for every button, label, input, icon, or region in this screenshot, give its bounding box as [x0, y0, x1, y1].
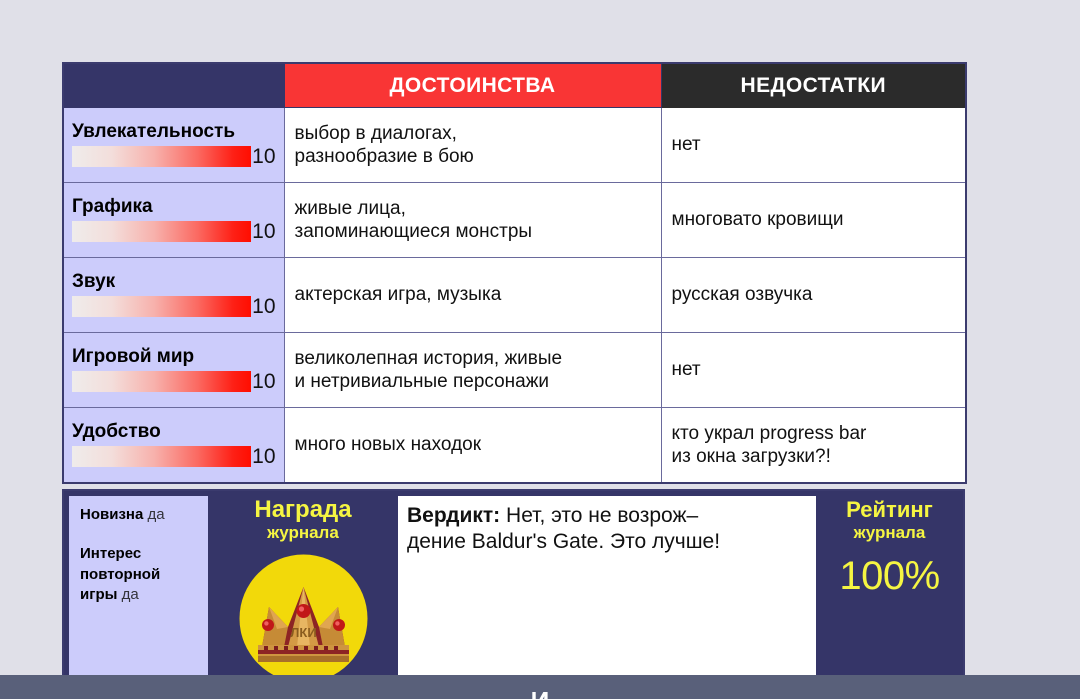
cons-line: многовато кровищи — [672, 208, 966, 231]
crown-medal-icon: ЛКИ — [236, 551, 371, 686]
award-box: Награда журнала — [208, 491, 398, 690]
replay-value: да — [122, 586, 139, 603]
header-criterion-blank — [63, 63, 284, 108]
rating-value: 100% — [816, 556, 963, 596]
criterion-cell: Удобство 10 — [63, 408, 284, 484]
criterion-label: Удобство — [72, 421, 276, 442]
score-meter: 10 — [72, 146, 276, 167]
replay-row: повторной — [80, 565, 208, 585]
cons-cell: нет — [661, 108, 966, 183]
criterion-cell: Звук 10 — [63, 258, 284, 333]
verdict-text-part1: Нет, это не возрож– — [500, 504, 698, 527]
table-header-row: ДОСТОИНСТВА НЕДОСТАТКИ — [63, 63, 966, 108]
pros-line: много новых находок — [295, 433, 661, 456]
pros-cell: много новых находок — [284, 408, 661, 484]
score-table: ДОСТОИНСТВА НЕДОСТАТКИ Увлекательность 1… — [62, 62, 967, 484]
cons-line: кто украл progress bar — [672, 422, 966, 445]
criterion-cell: Графика 10 — [63, 183, 284, 258]
game-review-card: ДОСТОИНСТВА НЕДОСТАТКИ Увлекательность 1… — [62, 62, 965, 692]
verdict-label: Вердикт: — [407, 504, 500, 527]
pros-line: разнообразие в бою — [295, 145, 661, 168]
novelty-value: да — [147, 506, 164, 523]
criterion-cell: Игровой мир 10 — [63, 333, 284, 408]
pros-cell: актерская игра, музыка — [284, 258, 661, 333]
award-title: Награда — [208, 498, 398, 522]
pros-line: выбор в диалогах, — [295, 122, 661, 145]
pros-line: великолепная история, живые — [295, 347, 661, 370]
score-table-header: ДОСТОИНСТВА НЕДОСТАТКИ — [63, 63, 966, 108]
verdict-line-2: дение Baldur's Gate. Это лучше! — [407, 529, 816, 555]
pros-line: актерская игра, музыка — [295, 283, 661, 306]
award-subtitle: журнала — [208, 522, 398, 545]
verdict-box: Вердикт: Нет, это не возрож– дение Baldu… — [398, 496, 816, 684]
score-meter-bar — [72, 296, 251, 317]
criterion-cell: Увлекательность 10 — [63, 108, 284, 183]
table-row: Увлекательность 10 выбор в диалогах, раз… — [63, 108, 966, 183]
table-row: Графика 10 живые лица, запоминающиеся мо… — [63, 183, 966, 258]
page-footer-strip: И — [0, 675, 1080, 699]
footer-text: И — [0, 688, 1080, 699]
pros-line: живые лица, — [295, 197, 661, 220]
cons-cell: многовато кровищи — [661, 183, 966, 258]
cons-line: нет — [672, 358, 966, 381]
score-meter: 10 — [72, 221, 276, 242]
rating-title: Рейтинг — [816, 499, 963, 521]
replay-label-line2: повторной — [80, 566, 160, 583]
score-meter-bar — [72, 146, 251, 167]
cons-cell: нет — [661, 333, 966, 408]
score-meter-bar — [72, 446, 251, 467]
verdict-line-1: Вердикт: Нет, это не возрож– — [407, 503, 816, 529]
novelty-label: Новизна — [80, 506, 143, 523]
cons-line: нет — [672, 133, 966, 156]
replay-row: игры да — [80, 585, 208, 605]
criterion-label: Игровой мир — [72, 346, 276, 367]
score-value: 10 — [251, 447, 275, 467]
extras-box: Новизна да Интерес повторной игры да — [69, 496, 208, 685]
score-table-body: Увлекательность 10 выбор в диалогах, раз… — [63, 108, 966, 484]
replay-label-line1: Интерес — [80, 545, 141, 562]
pros-line: запоминающиеся монстры — [295, 220, 661, 243]
pros-cell: выбор в диалогах, разнообразие в бою — [284, 108, 661, 183]
table-row: Игровой мир 10 великолепная история, жив… — [63, 333, 966, 408]
criterion-label: Звук — [72, 271, 276, 292]
extras-spacer — [80, 525, 208, 544]
rating-box: Рейтинг журнала 100% — [816, 491, 963, 690]
pros-line: и нетривиальные персонажи — [295, 370, 661, 393]
cons-line: русская озвучка — [672, 283, 966, 306]
criterion-label: Увлекательность — [72, 121, 276, 142]
cons-cell: русская озвучка — [661, 258, 966, 333]
pros-cell: великолепная история, живые и нетривиаль… — [284, 333, 661, 408]
score-meter: 10 — [72, 446, 276, 467]
header-pros: ДОСТОИНСТВА — [284, 63, 661, 108]
score-value: 10 — [251, 297, 275, 317]
cons-line: из окна загрузки?! — [672, 445, 966, 468]
rating-subtitle: журнала — [816, 521, 963, 545]
header-cons: НЕДОСТАТКИ — [661, 63, 966, 108]
score-value: 10 — [251, 222, 275, 242]
replay-row: Интерес — [80, 544, 208, 564]
score-meter: 10 — [72, 296, 276, 317]
score-meter-bar — [72, 221, 251, 242]
svg-text:ЛКИ: ЛКИ — [290, 625, 316, 640]
score-meter-bar — [72, 371, 251, 392]
table-row: Звук 10 актерская игра, музыка русская о… — [63, 258, 966, 333]
cons-cell: кто украл progress bar из окна загрузки?… — [661, 408, 966, 484]
score-value: 10 — [251, 147, 275, 167]
score-value: 10 — [251, 372, 275, 392]
table-row: Удобство 10 много новых находок кто укра… — [63, 408, 966, 484]
novelty-row: Новизна да — [80, 505, 208, 525]
pros-cell: живые лица, запоминающиеся монстры — [284, 183, 661, 258]
criterion-label: Графика — [72, 196, 276, 217]
replay-label-line3: игры — [80, 586, 117, 603]
score-meter: 10 — [72, 371, 276, 392]
summary-panel: Новизна да Интерес повторной игры да Наг… — [62, 489, 965, 692]
